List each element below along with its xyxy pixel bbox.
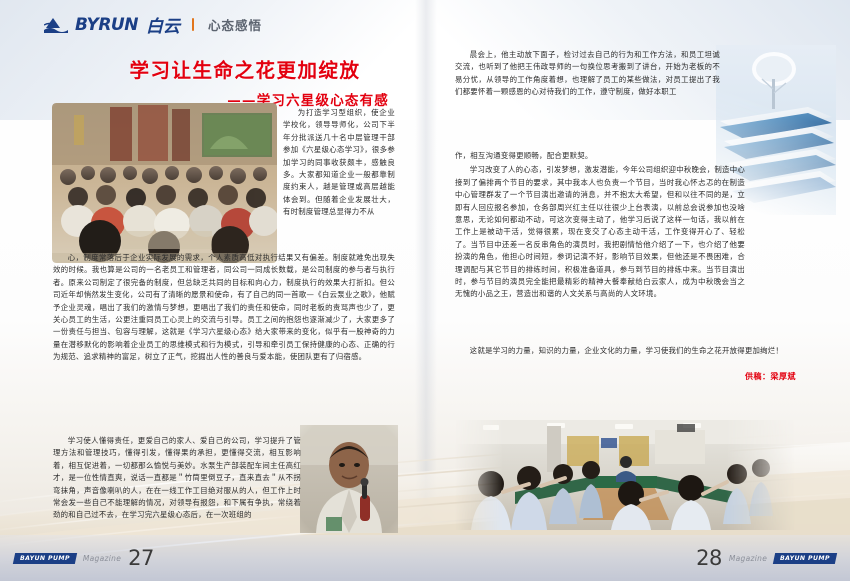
brand-latin-name: BYRUN [75, 15, 138, 35]
footer-magazine-word-right: Magazine [729, 554, 767, 563]
body-paragraph: 这就是学习的力量，知识的力量，企业文化的力量，学习使我们的生命之花开放得更加绚烂… [455, 345, 787, 357]
footer-brand-text: BAYUN PUMP [780, 555, 830, 562]
footer-brand-chip-left: BAYUN PUMP [13, 553, 77, 564]
headline-block: 学习让生命之花更加绽放 ——学习六星级心态有感 [95, 54, 395, 109]
left-column-b: 心，制度常落后于企业实际发展的需求，个人素质高低对执行结果又有偏差。制度就难免出… [53, 252, 395, 364]
left-column-a: 为打造学习型组织，使企业学校化，领导导师化，公司下半年分批派送几十名中层管理干部… [283, 107, 395, 219]
right-column-a: 晨会上，他主动放下面子，检讨过去自己的行为和工作方法，和员工坦诚交流，也听到了他… [455, 49, 720, 99]
footer-right: 28 Magazine BAYUN PUMP [425, 535, 850, 581]
right-column-c: 这就是学习的力量，知识的力量，企业文化的力量，学习使我们的生命之花开放得更加绚烂… [455, 345, 787, 357]
seminar-audience-photo [52, 103, 277, 263]
footer-left: BAYUN PUMP Magazine 27 [0, 535, 425, 581]
speaker-portrait-photo [300, 425, 398, 533]
page-gutter-shadow [415, 0, 437, 581]
logo-divider [192, 18, 194, 31]
footer-brand-chip-right: BAYUN PUMP [773, 553, 837, 564]
footer-magazine-word-left: Magazine [83, 554, 121, 563]
brand-logo[interactable]: BYRUN 白云 心态感悟 [44, 12, 262, 37]
body-paragraph: 为打造学习型组织，使企业学校化，领导导师化，公司下半年分批派送几十名中层管理干部… [283, 107, 395, 219]
body-paragraph: 心，制度常落后于企业实际发展的需求，个人素质高低对执行结果又有偏差。制度就难免出… [53, 252, 395, 364]
body-paragraph: 学习改变了人的心态，引发梦想，激发潜能，今年公司组织迎中秋晚会，制造中心接到了偏… [455, 164, 745, 300]
training-room-photo [455, 420, 795, 530]
footer-brand-text: BAYUN PUMP [20, 555, 70, 562]
page-number-left: 27 [128, 546, 154, 570]
mountain-wave-logo-icon [44, 16, 68, 33]
masthead: BYRUN 白云 心态感悟 [0, 0, 850, 44]
article-title: 学习让生命之花更加绽放 [95, 54, 395, 83]
right-column-b: 作，相互沟通变得更顺畅，配合更默契。 学习改变了人的心态，引发梦想，激发潜能，今… [455, 150, 745, 301]
article-byline: 供稿：梁厚斌 [745, 371, 796, 382]
left-column-c: 学习使人懂得责任，更爱自己的家人、爱自己的公司，学习提升了管理方法和管理技巧，懂… [53, 435, 301, 522]
body-paragraph: 学习使人懂得责任，更爱自己的家人、爱自己的公司，学习提升了管理方法和管理技巧，懂… [53, 435, 301, 522]
section-label: 心态感悟 [208, 15, 262, 34]
body-paragraph: 作，相互沟通变得更顺畅，配合更默契。 [455, 150, 745, 162]
page-number-right: 28 [696, 546, 722, 570]
magazine-spread: BYRUN 白云 心态感悟 学习让生命之花更加绽放 ——学习六星级心态有感 [0, 0, 850, 581]
body-paragraph: 晨会上，他主动放下面子，检讨过去自己的行为和工作方法，和员工坦诚交流，也听到了他… [455, 49, 720, 99]
brand-chinese-name: 白云 [146, 12, 180, 37]
